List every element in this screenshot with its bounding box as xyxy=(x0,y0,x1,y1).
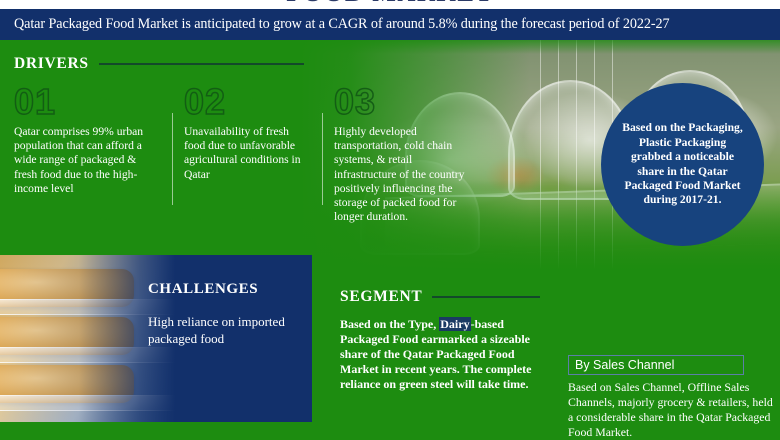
headline-banner: Qatar Packaged Food Market is anticipate… xyxy=(0,9,780,40)
challenges-body: CHALLENGES High reliance on imported pac… xyxy=(148,281,298,347)
challenges-text: High reliance on imported packaged food xyxy=(148,314,298,347)
sales-channel-label: By Sales Channel xyxy=(575,358,674,372)
challenges-section: CHALLENGES High reliance on imported pac… xyxy=(0,255,312,422)
packaging-callout-text: Based on the Packaging, Plastic Packagin… xyxy=(617,121,748,207)
segment-text: Based on the Type, Dairy-based Packaged … xyxy=(340,317,555,393)
driver-number: 03 xyxy=(334,85,470,119)
driver-item-1: 01 Qatar comprises 99% urban population … xyxy=(14,85,172,224)
page-title: FOOD MARKET xyxy=(0,0,780,8)
heading-rule xyxy=(432,296,540,298)
drivers-columns: 01 Qatar comprises 99% urban population … xyxy=(14,85,484,224)
sales-channel-input[interactable]: By Sales Channel xyxy=(568,355,744,375)
driver-number: 01 xyxy=(14,85,160,119)
driver-item-3: 03 Highly developed transportation, cold… xyxy=(322,85,482,224)
packaging-callout-circle: Based on the Packaging, Plastic Packagin… xyxy=(601,83,764,246)
drivers-heading: DRIVERS xyxy=(14,55,304,73)
sales-channel-text: Based on Sales Channel, Offline Sales Ch… xyxy=(568,380,773,439)
segment-heading-label: SEGMENT xyxy=(340,288,422,306)
drivers-section: DRIVERS 01 Qatar comprises 99% urban pop… xyxy=(14,55,484,224)
main-green-body: DRIVERS 01 Qatar comprises 99% urban pop… xyxy=(0,40,780,440)
drivers-heading-label: DRIVERS xyxy=(14,55,89,73)
driver-text: Qatar comprises 99% urban population tha… xyxy=(14,125,160,196)
headline-text: Qatar Packaged Food Market is anticipate… xyxy=(0,16,669,33)
segment-section: SEGMENT Based on the Type, Dairy-based P… xyxy=(340,288,555,393)
page-title-strip: FOOD MARKET xyxy=(0,0,780,9)
challenges-heading-label: CHALLENGES xyxy=(148,281,298,298)
segment-heading: SEGMENT xyxy=(340,288,540,306)
infographic-page: FOOD MARKET Qatar Packaged Food Market i… xyxy=(0,0,780,440)
heading-rule xyxy=(99,63,304,65)
driver-number: 02 xyxy=(184,85,310,119)
driver-text: Unavailability of fresh food due to unfa… xyxy=(184,125,310,182)
driver-text: Highly developed transportation, cold ch… xyxy=(334,125,470,224)
segment-text-before: Based on the Type, xyxy=(340,317,439,331)
segment-text-selection: Dairy xyxy=(439,317,470,331)
driver-item-2: 02 Unavailability of fresh food due to u… xyxy=(172,85,322,224)
